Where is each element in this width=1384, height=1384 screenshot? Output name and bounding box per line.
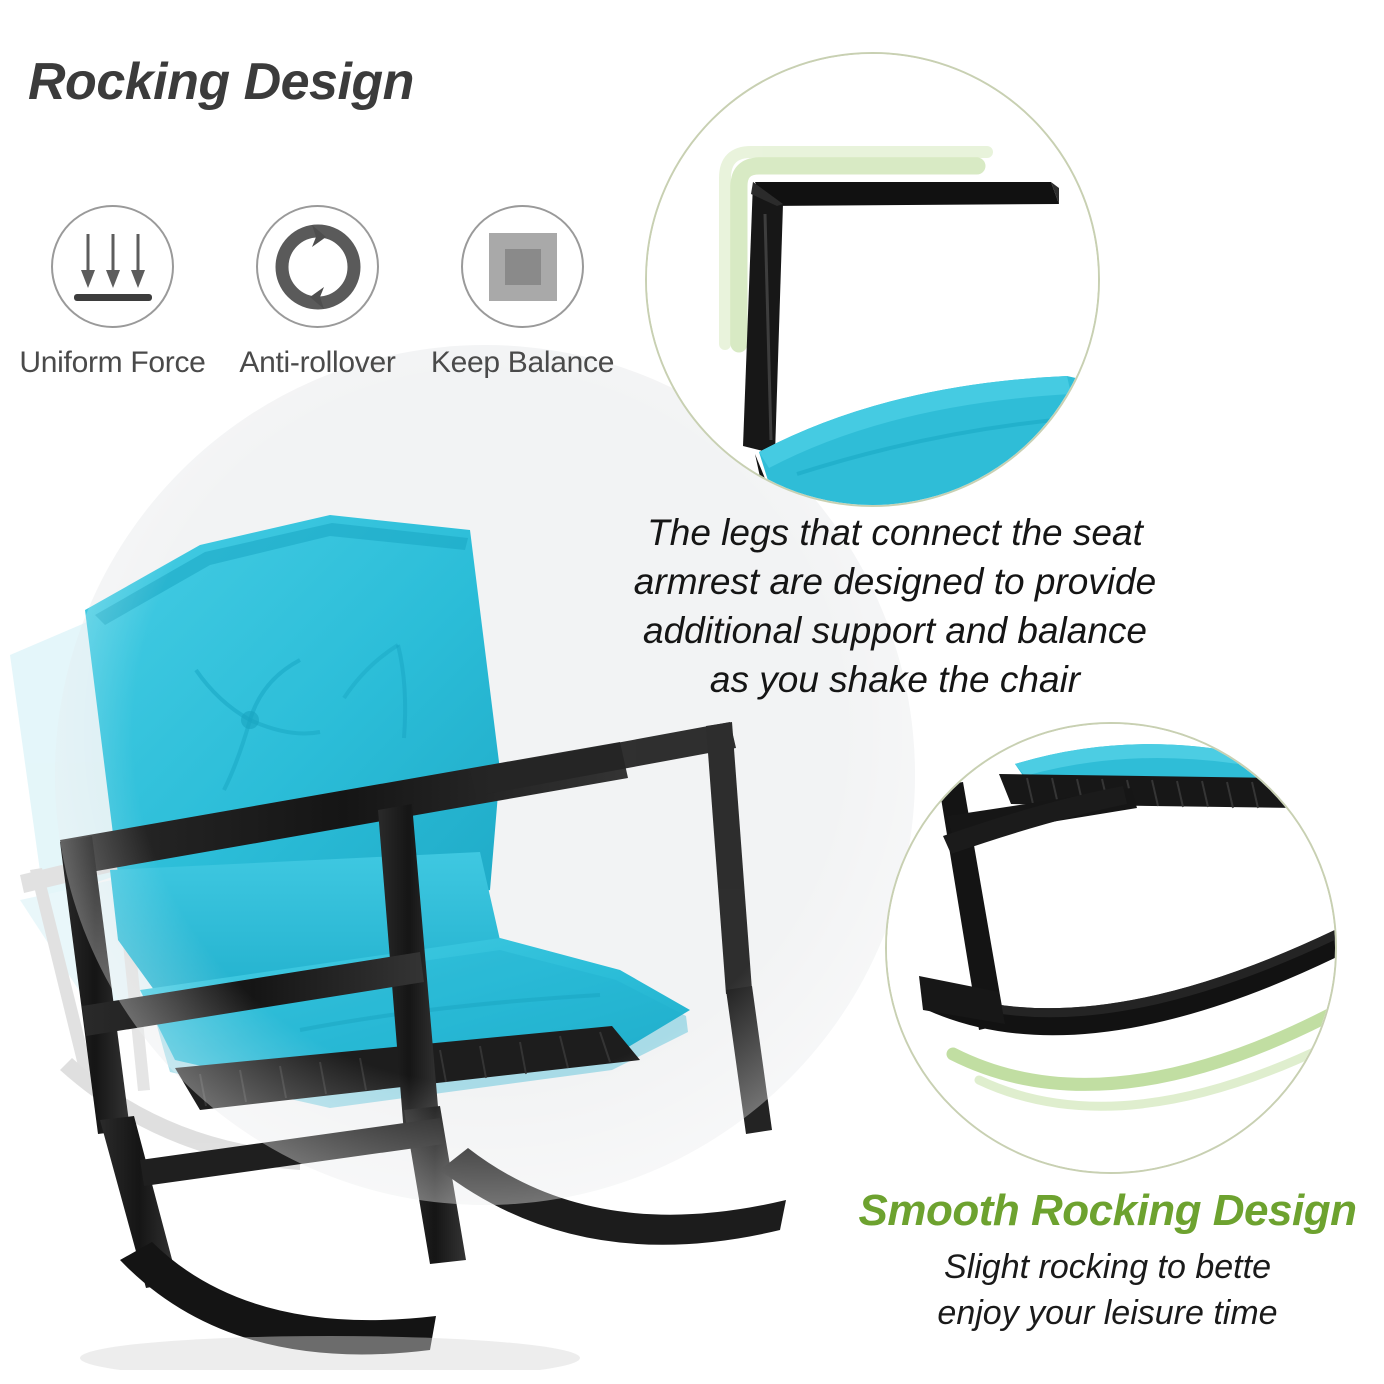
feature-circle — [51, 205, 174, 328]
feature-circle — [461, 205, 584, 328]
feature-uniform-force: Uniform Force — [10, 205, 215, 380]
caption-heading: Smooth Rocking Design — [835, 1186, 1380, 1236]
feature-label: Uniform Force — [19, 346, 205, 380]
feature-anti-rollover: Anti-rollover — [215, 205, 420, 380]
paragraph-line: armrest are designed to provide — [600, 557, 1190, 606]
feature-label: Keep Balance — [431, 346, 614, 380]
inset-armrest-leg-joint — [645, 52, 1100, 507]
nested-squares-icon — [485, 229, 561, 305]
feature-keep-balance: Keep Balance — [420, 205, 625, 380]
body-paragraph: The legs that connect the seat armrest a… — [600, 508, 1190, 704]
paragraph-line: additional support and balance — [600, 606, 1190, 655]
caption-line: Slight rocking to bette — [835, 1244, 1380, 1290]
infographic-page: Rocking Design Uniform Force — [0, 0, 1384, 1384]
armrest-leg-joint-detail — [647, 54, 1100, 507]
paragraph-line: as you shake the chair — [600, 655, 1190, 704]
caption-line: enjoy your leisure time — [835, 1290, 1380, 1336]
feature-circle — [256, 205, 379, 328]
paragraph-line: The legs that connect the seat — [600, 508, 1190, 557]
feature-label: Anti-rollover — [239, 346, 395, 380]
feature-list: Uniform Force Anti-rollover Keep Bal — [10, 205, 625, 380]
rocker-base-detail — [887, 724, 1337, 1174]
circular-rotation-arrows-icon — [272, 221, 364, 313]
page-title: Rocking Design — [28, 52, 414, 112]
caption-block: Smooth Rocking Design Slight rocking to … — [835, 1186, 1380, 1336]
caption-subtext: Slight rocking to bette enjoy your leisu… — [835, 1244, 1380, 1336]
inset-rocker-base — [885, 722, 1337, 1174]
downward-arrows-on-bar-icon — [70, 228, 156, 306]
